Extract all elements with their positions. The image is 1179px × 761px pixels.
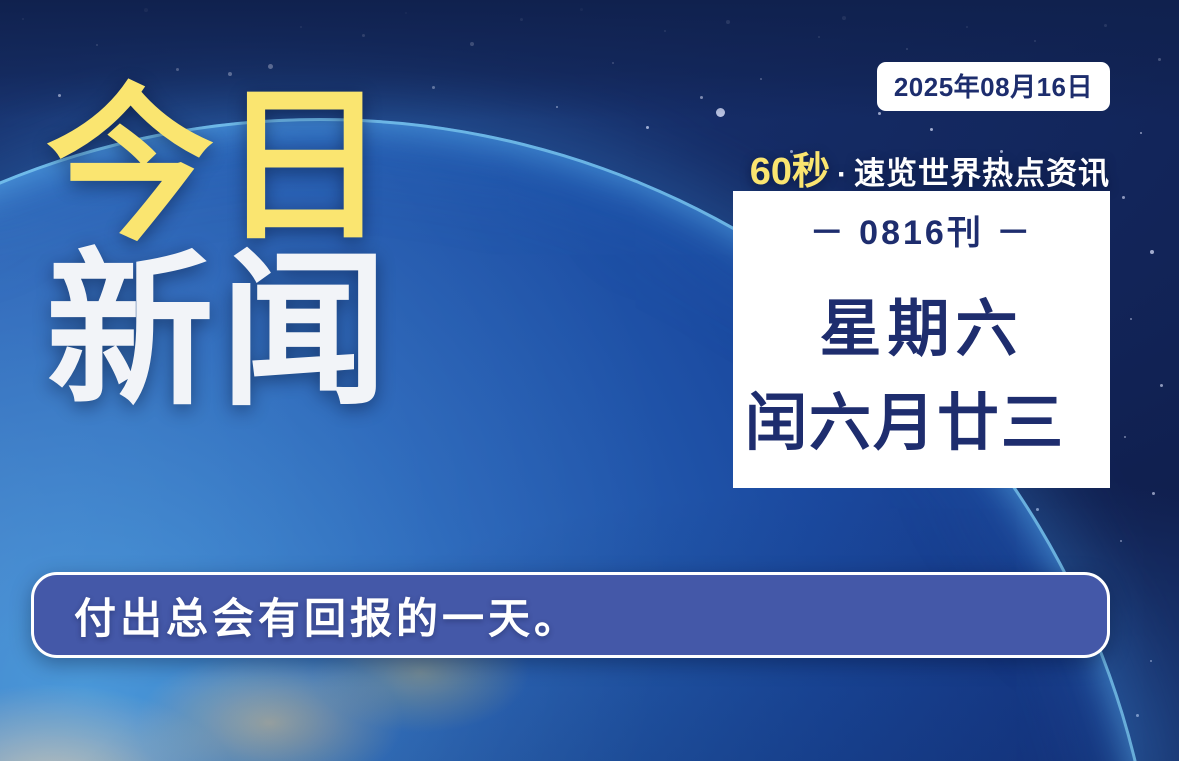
- tagline: 60秒 · 速览世界热点资讯: [750, 140, 1110, 195]
- headline-line-news: 新闻: [46, 251, 394, 412]
- lunar-date-label: 闰六月廿三: [745, 372, 1145, 462]
- tagline-text: 速览世界热点资讯: [854, 148, 1110, 193]
- tagline-highlight: 60秒: [750, 140, 830, 195]
- issue-number: － 0816刊 －: [810, 205, 1034, 254]
- weekday-label: 星期六: [819, 278, 1023, 368]
- tagline-separator: ·: [837, 158, 847, 192]
- quote-text: 付出总会有回报的一天。: [74, 585, 580, 646]
- quote-bar: 付出总会有回报的一天。: [31, 572, 1110, 658]
- headline-line-today: 今日: [46, 86, 394, 247]
- page-title: 今日 新闻: [46, 86, 394, 413]
- date-badge: 2025年08月16日: [877, 62, 1110, 111]
- news-poster: 今日 新闻 2025年08月16日 60秒 · 速览世界热点资讯 － 0816刊…: [0, 0, 1179, 761]
